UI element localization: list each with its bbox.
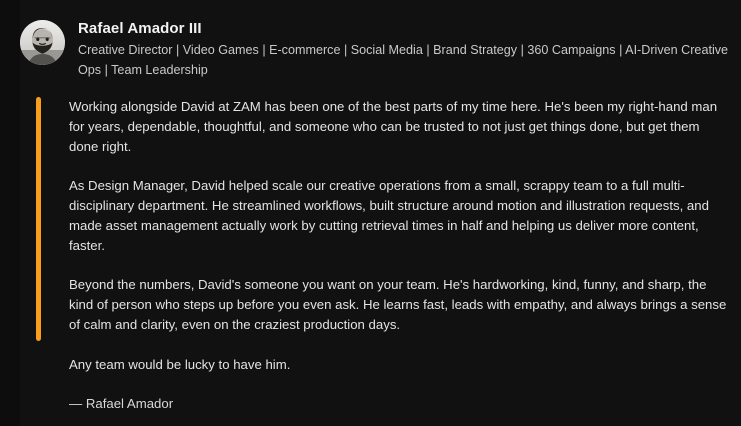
testimonial-content: Rafael Amador III Creative Director | Vi… bbox=[20, 18, 731, 414]
quote-body: Working alongside David at ZAM has been … bbox=[69, 97, 731, 414]
quote-paragraph: Any team would be lucky to have him. bbox=[69, 355, 731, 375]
author-meta: Rafael Amador III Creative Director | Vi… bbox=[78, 18, 731, 80]
quote-paragraph: Beyond the numbers, David's someone you … bbox=[69, 275, 731, 335]
author-title: Creative Director | Video Games | E-comm… bbox=[78, 41, 731, 80]
avatar-photo-icon bbox=[20, 20, 65, 65]
quote-paragraph: Working alongside David at ZAM has been … bbox=[69, 97, 731, 157]
author-name: Rafael Amador III bbox=[78, 19, 731, 39]
quote-block: Working alongside David at ZAM has been … bbox=[20, 97, 731, 414]
accent-bar bbox=[36, 97, 41, 341]
author-header: Rafael Amador III Creative Director | Vi… bbox=[20, 18, 731, 80]
avatar bbox=[20, 20, 65, 65]
quote-paragraph: As Design Manager, David helped scale ou… bbox=[69, 176, 731, 256]
testimonial-card: Rafael Amador III Creative Director | Vi… bbox=[0, 0, 741, 426]
quote-signature: — Rafael Amador bbox=[69, 394, 731, 414]
